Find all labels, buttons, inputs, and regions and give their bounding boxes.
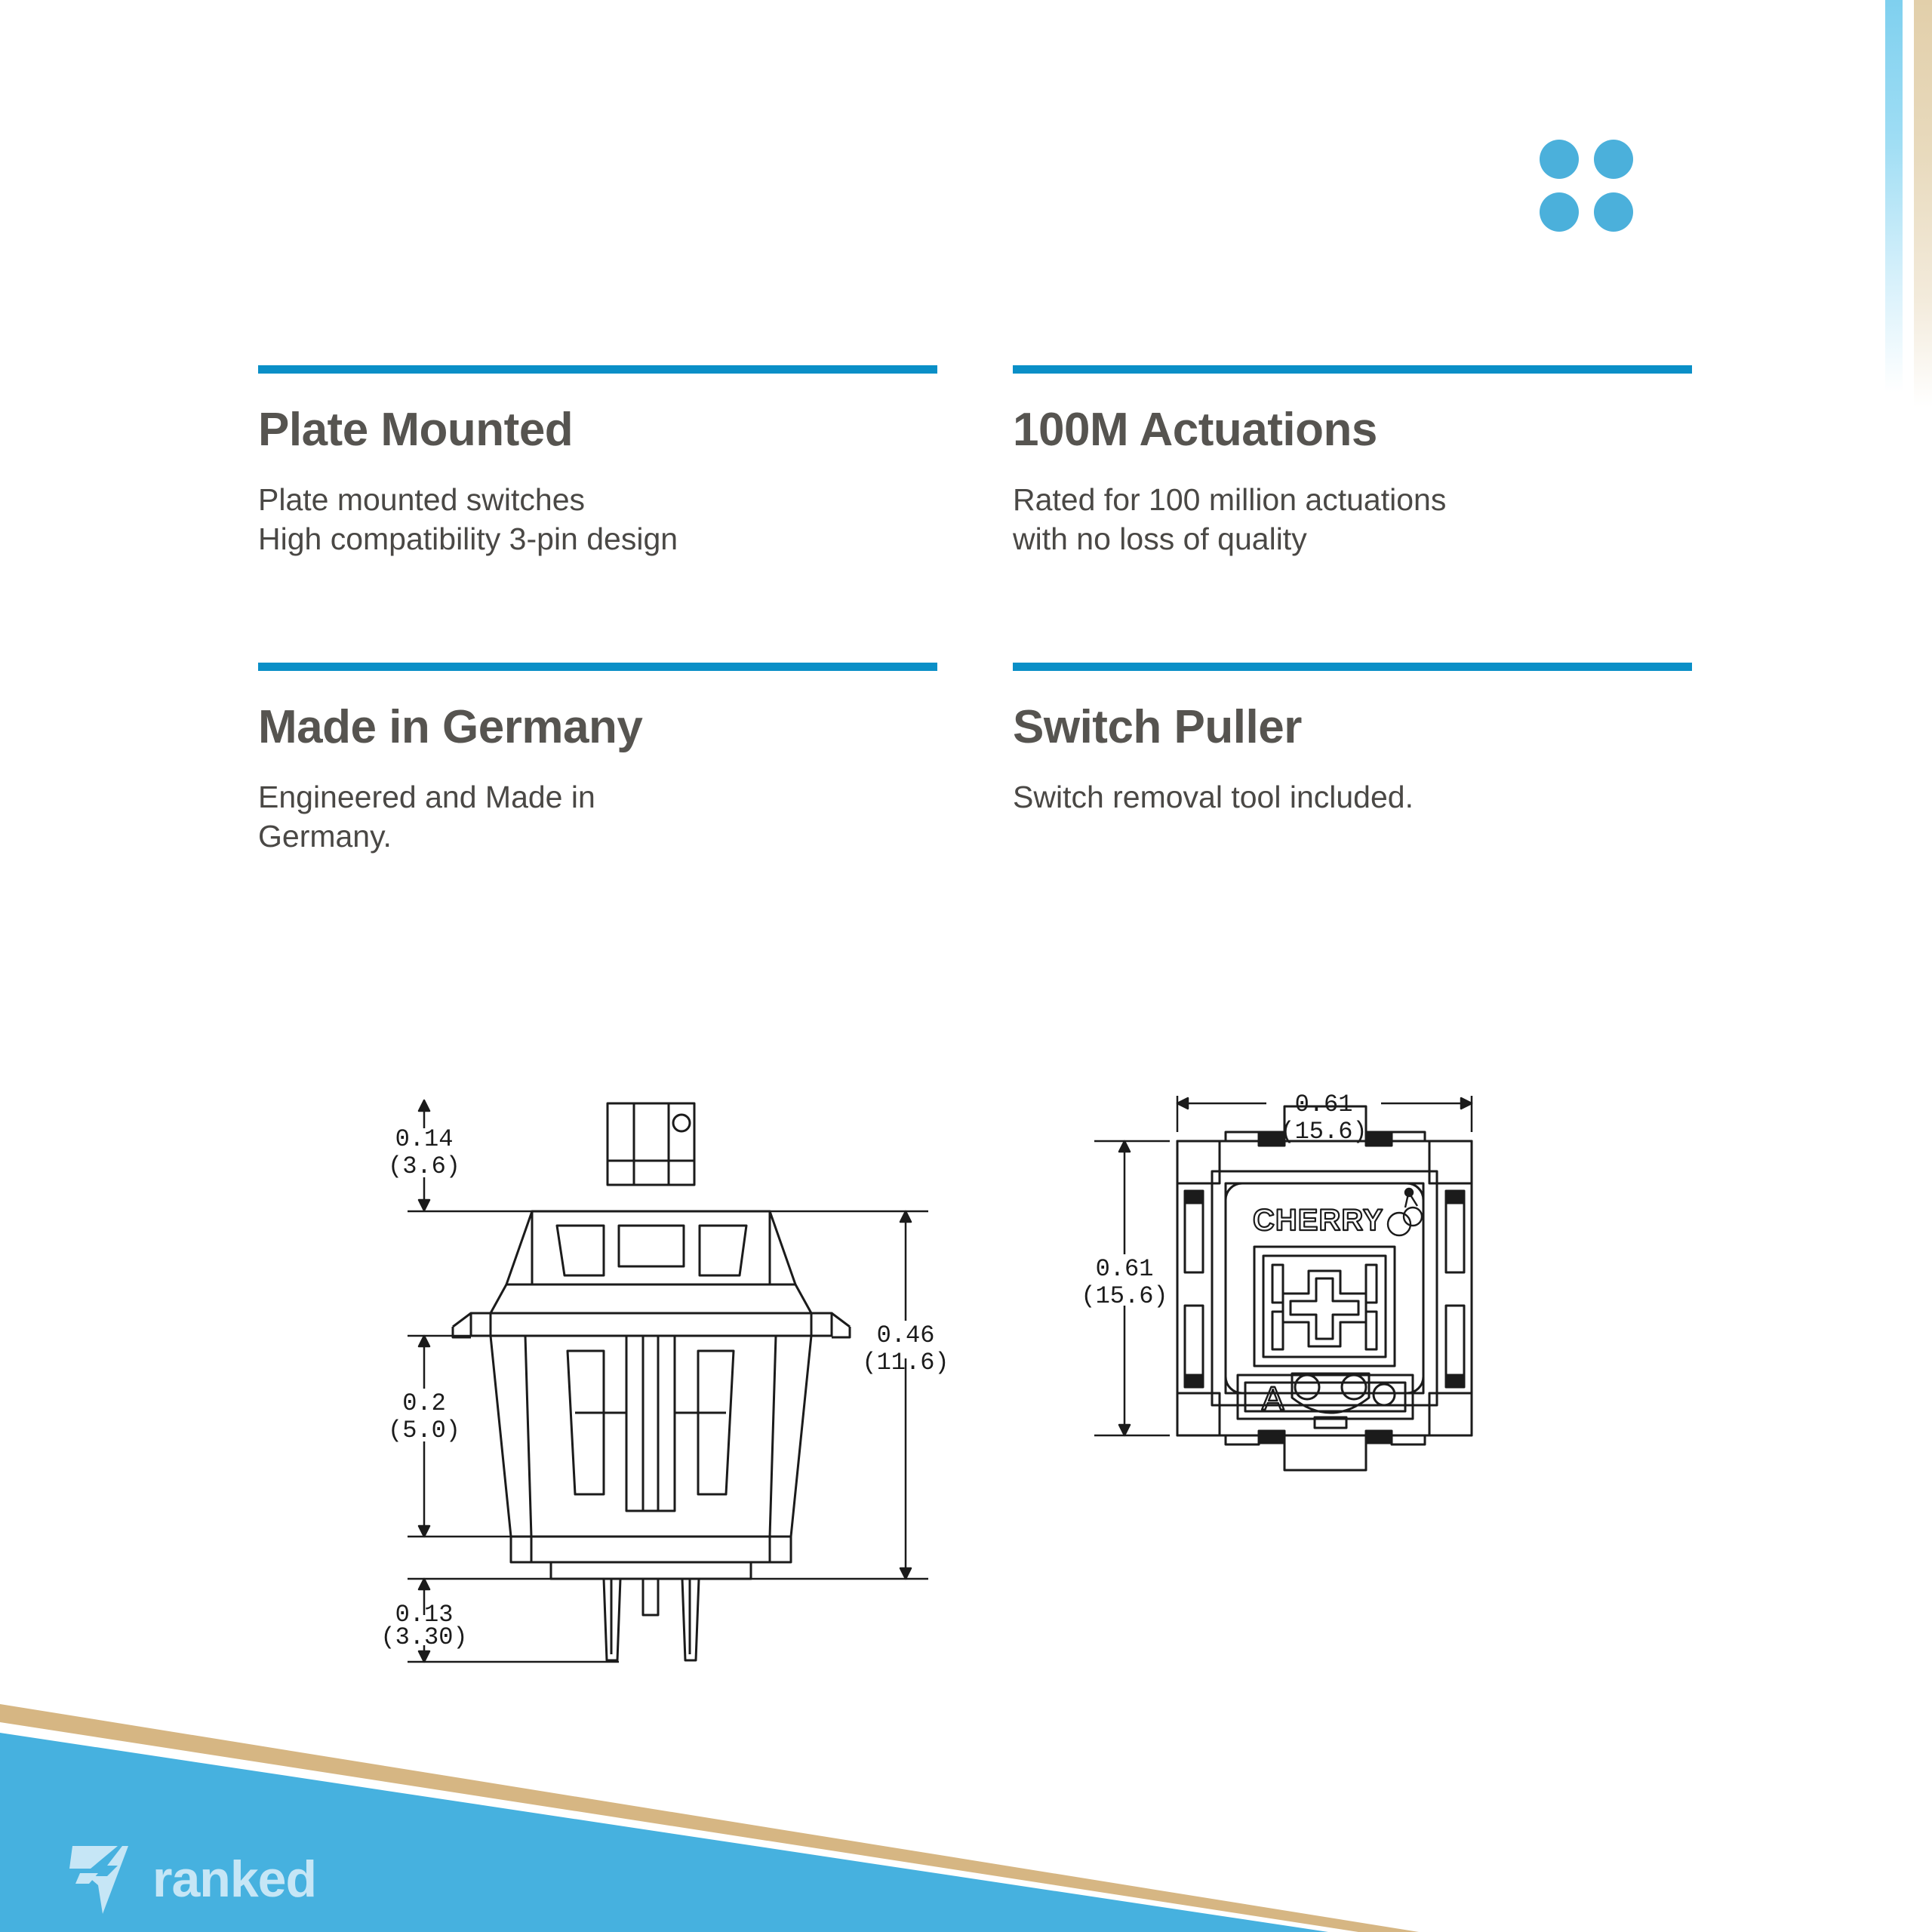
corner-stripe-blue (1885, 0, 1903, 392)
cherry-wordmark: CHERRY (1253, 1204, 1383, 1237)
corner-stripe-tan (1914, 0, 1932, 408)
accent-rule (258, 365, 937, 374)
feature-title: Plate Mounted (258, 407, 937, 454)
feature-card-plate-mounted: Plate Mounted Plate mounted switches Hig… (258, 365, 937, 559)
feature-card-switch-puller: Switch Puller Switch removal tool includ… (1013, 663, 1692, 857)
feature-card-100m-actuations: 100M Actuations Rated for 100 million ac… (1013, 365, 1692, 559)
accent-rule (1013, 365, 1692, 374)
four-dots-icon (1540, 140, 1638, 232)
dim-total-height-mm: (11.6) (862, 1349, 949, 1377)
cherry-fruit-icon (1388, 1189, 1422, 1235)
dim-body-height-mm: (5.0) (388, 1417, 460, 1444)
feature-body: Engineered and Made in Germany. (258, 777, 937, 857)
dim-stem-height-inch: 0.14 (395, 1125, 454, 1153)
dot-top-right (1594, 140, 1633, 179)
feature-title: 100M Actuations (1013, 407, 1692, 454)
accent-rule (1013, 663, 1692, 671)
dim-depth-inch: 0.61 (1096, 1255, 1154, 1283)
dim-body-height-inch: 0.2 (402, 1389, 446, 1417)
dot-bottom-left (1540, 192, 1579, 232)
dot-top-left (1540, 140, 1579, 179)
feature-body: Plate mounted switches High compatibilit… (258, 480, 937, 559)
ranked-wordmark: ranked (152, 1854, 316, 1905)
feature-body: Rated for 100 million actuations with no… (1013, 480, 1692, 559)
technical-drawings: 0.14 (3.6) 0.2 (5.0) 0.13 (3.30) 0.46 (1… (0, 1087, 1932, 1751)
accent-rule (258, 663, 937, 671)
ranked-arrow-logo (68, 1843, 133, 1915)
dim-depth-mm: (15.6) (1081, 1282, 1168, 1310)
pin-label-a: A (1262, 1380, 1284, 1417)
feature-title: Made in Germany (258, 704, 937, 751)
dot-bottom-right (1594, 192, 1633, 232)
dim-pin-length-mm: (3.30) (380, 1623, 467, 1651)
switch-side-view-drawing: 0.14 (3.6) 0.2 (5.0) 0.13 (3.30) 0.46 (1… (377, 1087, 981, 1755)
feature-grid: Plate Mounted Plate mounted switches Hig… (258, 365, 1692, 857)
feature-body: Switch removal tool included. (1013, 777, 1692, 817)
switch-top-view-drawing: CHERRY A (1064, 1087, 1668, 1755)
feature-card-made-in-germany: Made in Germany Engineered and Made in G… (258, 663, 937, 857)
feature-title: Switch Puller (1013, 704, 1692, 751)
dim-width-mm: (15.6) (1280, 1118, 1367, 1146)
dim-total-height-inch: 0.46 (877, 1321, 935, 1349)
ranked-brand-lockup: ranked (68, 1843, 316, 1915)
dim-width-inch: 0.61 (1295, 1091, 1353, 1118)
dim-stem-height-mm: (3.6) (388, 1152, 460, 1180)
